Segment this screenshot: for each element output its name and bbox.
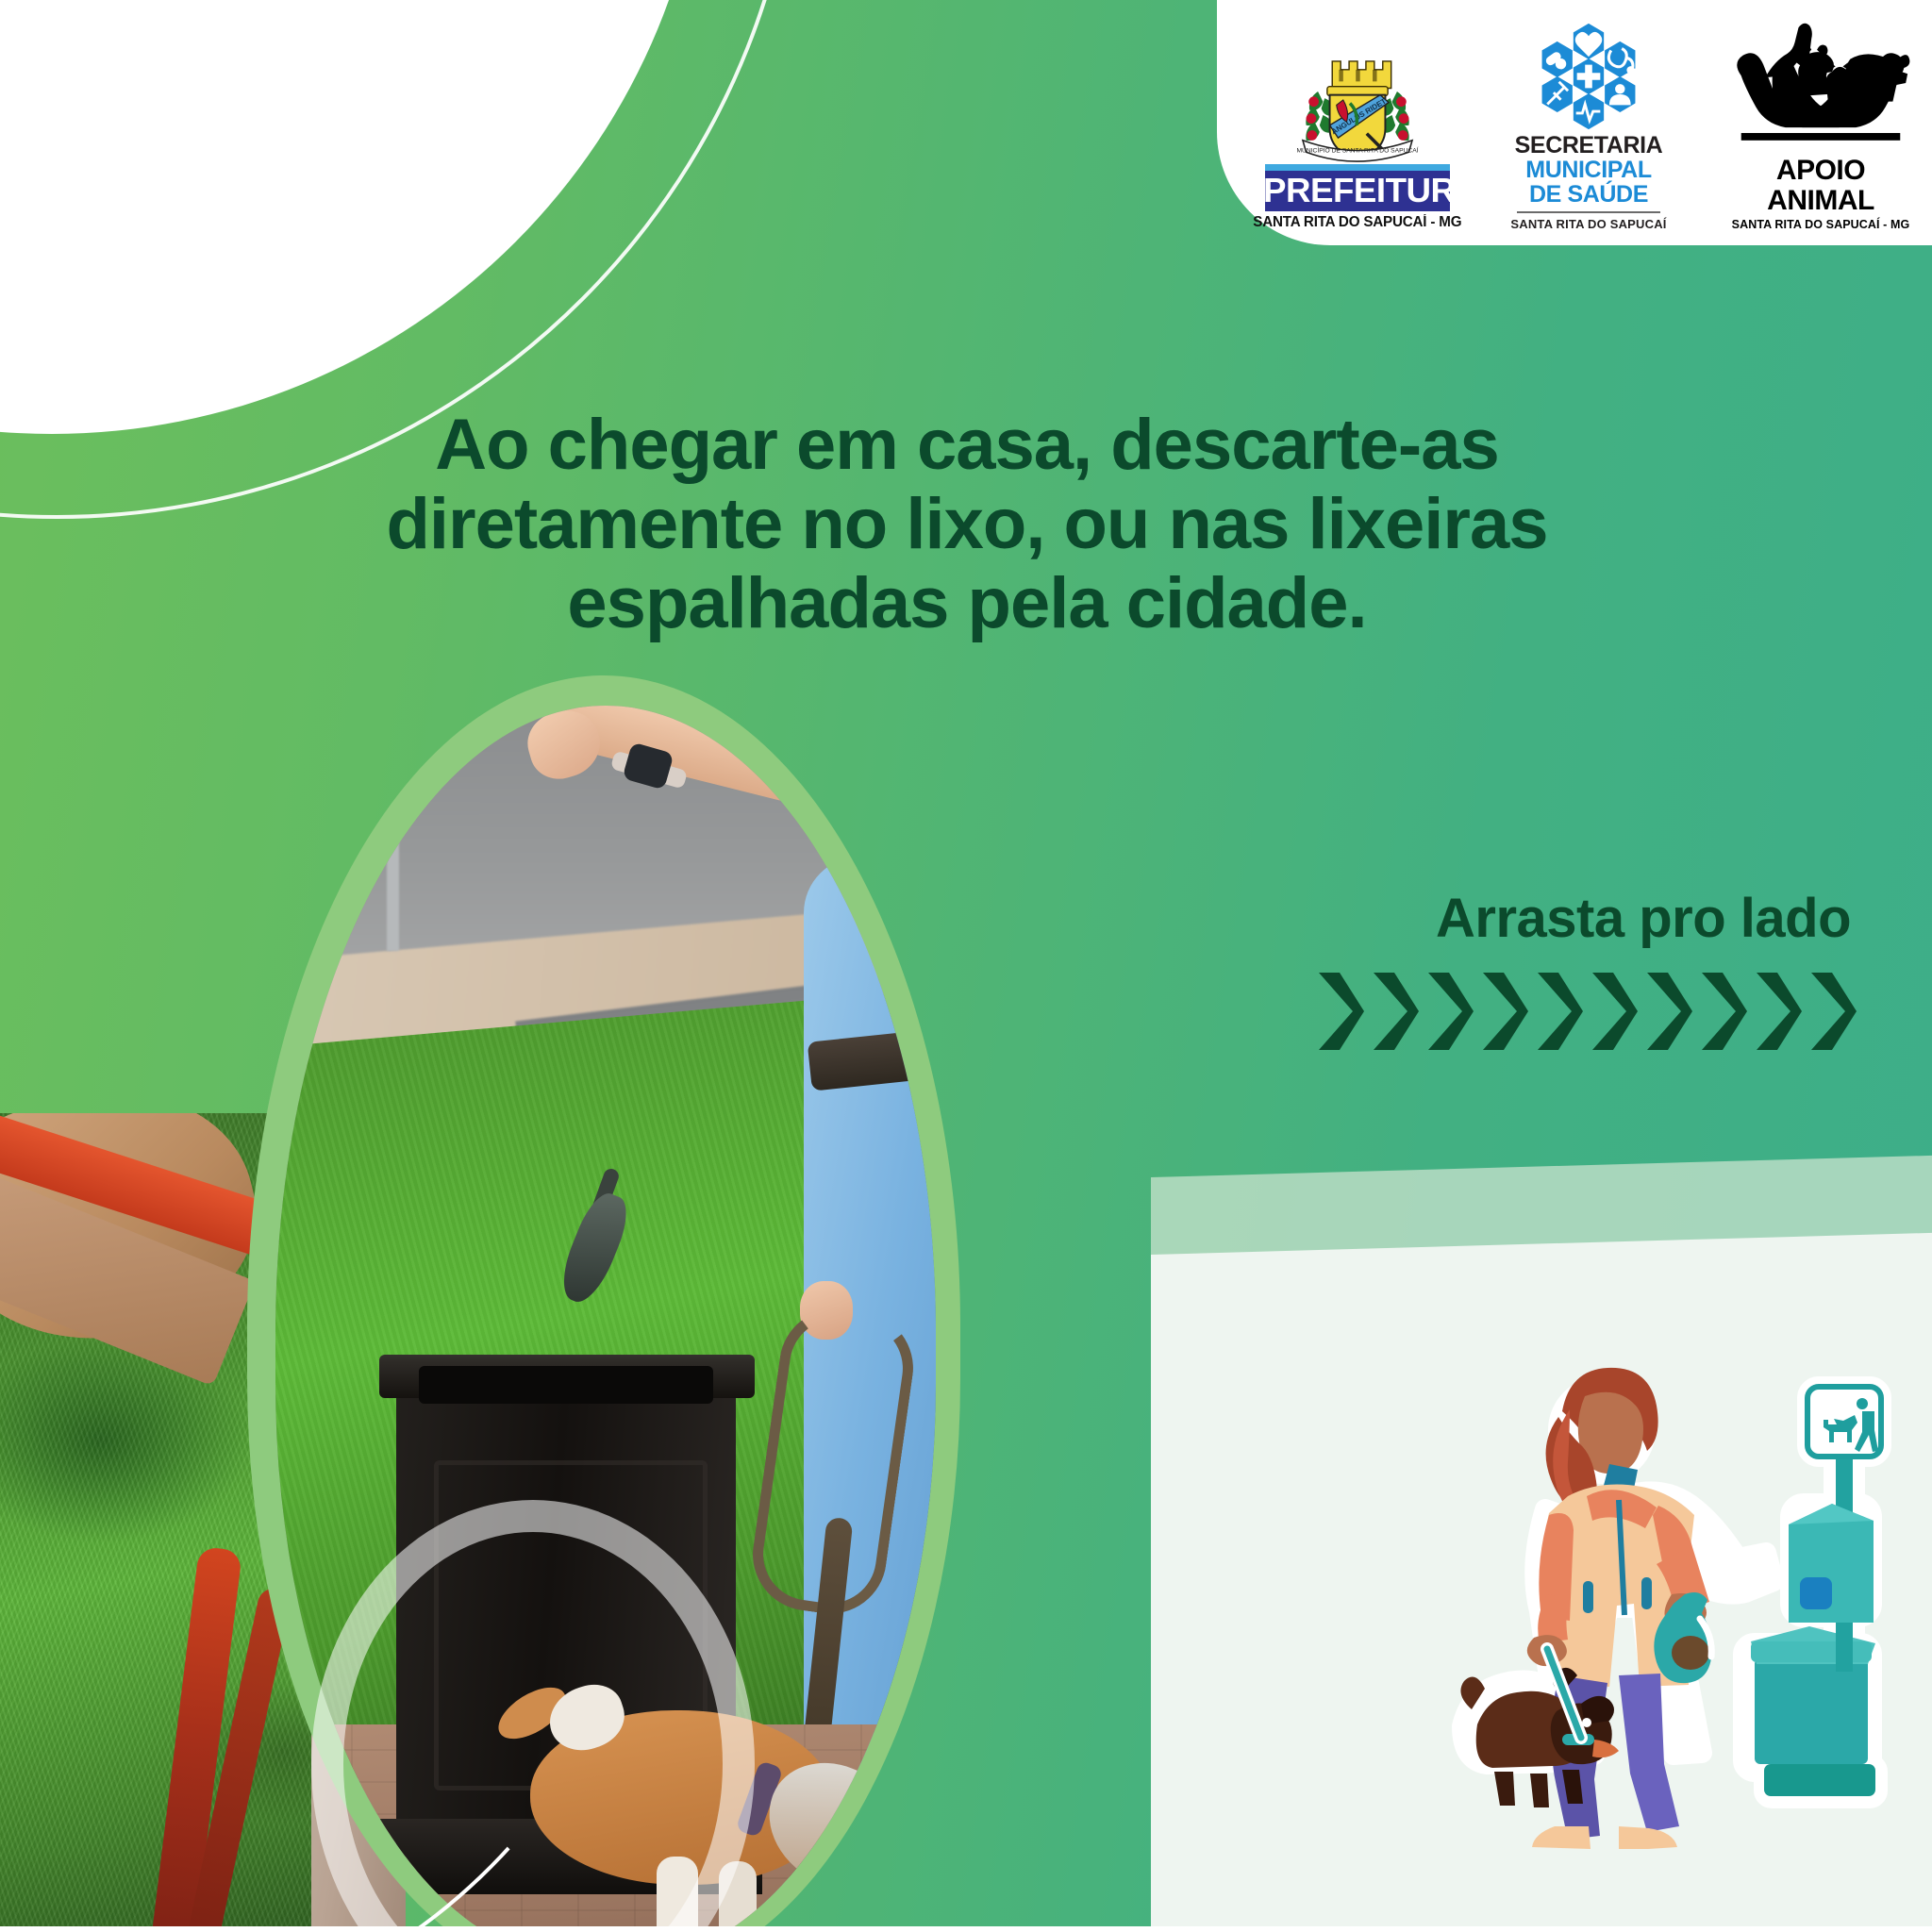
prefeitura-wordmark: PREFEITURA bbox=[1265, 171, 1450, 211]
bottom-white-strip bbox=[0, 1926, 1932, 1932]
poster-root: ANGULUS RIDET MUNICÍPIO DE SANTA RITA DO… bbox=[0, 0, 1932, 1932]
saude-subtitle: SANTA RITA DO SAPUCAÍ bbox=[1510, 217, 1666, 231]
apoio-animal-title: APOIO ANIMAL bbox=[1722, 156, 1920, 216]
svg-text:MUNICÍPIO DE SANTA RITA DO SAP: MUNICÍPIO DE SANTA RITA DO SAPUCAÍ bbox=[1296, 145, 1418, 154]
headline-line-1: Ao chegar em casa, descarte-as bbox=[170, 406, 1764, 485]
dog-walking-sign-icon bbox=[1807, 1387, 1881, 1457]
prefeitura-logo[interactable]: ANGULUS RIDET MUNICÍPIO DE SANTA RITA DO… bbox=[1259, 52, 1456, 231]
illustration-waste-bin bbox=[1751, 1626, 1875, 1796]
chevron-right-icon bbox=[1643, 971, 1696, 1052]
headline-line-3: espalhadas pela cidade. bbox=[170, 564, 1764, 643]
prefeitura-top-bar bbox=[1265, 164, 1450, 171]
header-logos: ANGULUS RIDET MUNICÍPIO DE SANTA RITA DO… bbox=[1259, 42, 1920, 231]
chevron-right-icon bbox=[1370, 971, 1423, 1052]
chevron-right-icon bbox=[1424, 971, 1477, 1052]
saude-line-3: DE SAÚDE bbox=[1529, 182, 1648, 207]
health-hexagon-cluster-icon bbox=[1530, 20, 1647, 133]
secretaria-saude-logo[interactable]: SECRETARIA MUNICIPAL DE SAÚDE SANTA RITA… bbox=[1508, 20, 1669, 231]
swipe-cta[interactable]: Arrasta pro lado bbox=[1283, 887, 1868, 1052]
headline-line-2: diretamente no lixo, ou nas lixeiras bbox=[170, 485, 1764, 564]
chevron-right-icon bbox=[1807, 971, 1860, 1052]
saude-divider bbox=[1517, 211, 1660, 213]
chevron-right-icon bbox=[1534, 971, 1587, 1052]
prefeitura-title: PREFEITURA bbox=[1263, 174, 1452, 208]
saude-line-1: SECRETARIA bbox=[1515, 133, 1663, 158]
apoio-animal-subtitle: SANTA RITA DO SAPUCAÍ - MG bbox=[1732, 218, 1910, 231]
woman-walking-dog-illustration bbox=[1443, 1358, 1932, 1849]
chevron-right-icon bbox=[1753, 971, 1806, 1052]
page-headline: Ao chegar em casa, descarte-as diretamen… bbox=[170, 406, 1764, 643]
prefeitura-subtitle: SANTA RITA DO SAPUCAÍ - MG bbox=[1253, 214, 1461, 231]
hands-holding-animals-icon bbox=[1728, 14, 1913, 156]
swipe-cta-label: Arrasta pro lado bbox=[1283, 887, 1868, 950]
chevron-right-icon bbox=[1315, 971, 1368, 1052]
apoio-animal-logo[interactable]: APOIO ANIMAL SANTA RITA DO SAPUCAÍ - MG bbox=[1722, 14, 1920, 231]
saude-line-2: MUNICIPAL bbox=[1525, 158, 1651, 182]
chevron-right-icon bbox=[1589, 971, 1641, 1052]
chevron-right-icon bbox=[1698, 971, 1751, 1052]
prefeitura-coat-of-arms-icon: ANGULUS RIDET MUNICÍPIO DE SANTA RITA DO… bbox=[1286, 52, 1429, 163]
swipe-chevrons bbox=[1283, 971, 1868, 1052]
chevron-right-icon bbox=[1479, 971, 1532, 1052]
